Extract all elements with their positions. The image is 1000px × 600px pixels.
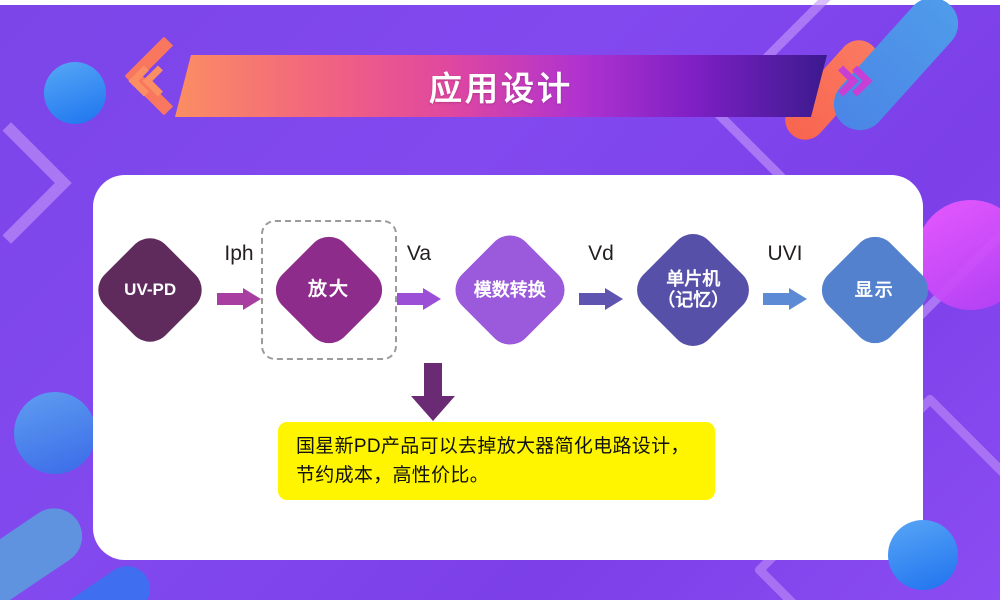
connector-label: Iph [224, 242, 253, 266]
slide-root: 应用设计 UV-PD Iph [0, 0, 1000, 600]
flow-node-label: 模数转换 [474, 280, 546, 301]
circle-magenta-right [916, 200, 1000, 310]
pill-bar-blue-bottom-left [0, 497, 93, 600]
arrow-right-icon [579, 288, 623, 310]
connector-label: Vd [588, 242, 614, 266]
double-chevron-left-icon [133, 61, 167, 111]
flow-node-amplifier[interactable]: 放大 [285, 246, 373, 334]
flow-node-adc[interactable]: 模数转换 [465, 245, 555, 335]
flow-node-label-line2: （记忆） [657, 290, 729, 310]
content-card: UV-PD Iph 放大 Va [93, 175, 923, 560]
diamond-shape: 显示 [813, 228, 937, 352]
circle-blue-bottom-left [14, 392, 96, 474]
callout-note: 国星新PD产品可以去掉放大器简化电路设计， 节约成本，高性价比。 [278, 422, 715, 500]
callout-line-1: 国星新PD产品可以去掉放大器简化电路设计， [296, 432, 697, 461]
flow-node-uv-pd[interactable]: UV-PD [107, 247, 193, 333]
flow-node-label: UV-PD [124, 280, 176, 300]
title-banner: 应用设计 [133, 55, 868, 117]
flow-connector-vd: Vd [555, 240, 647, 340]
flow-node-label: 显示 [855, 280, 895, 301]
arrow-down-icon [411, 363, 455, 421]
pill-bar-indigo-bottom-left [0, 557, 159, 600]
flow-node-display[interactable]: 显示 [831, 246, 919, 334]
page-title: 应用设计 [175, 55, 827, 117]
connector-label: UVI [767, 242, 802, 266]
arrow-right-icon [763, 288, 807, 310]
flow-connector-uvi: UVI [739, 240, 831, 340]
flow-diagram: UV-PD Iph 放大 Va [107, 225, 909, 355]
flow-node-label-line1: 单片机 [666, 269, 720, 289]
chevron-outline-left [0, 122, 72, 244]
circle-blue-top-left [44, 62, 106, 124]
callout-line-2: 节约成本，高性价比。 [296, 461, 697, 490]
arrow-right-icon [217, 288, 261, 310]
top-edge-strip [0, 0, 1000, 5]
flow-node-label: 单片机 （记忆） [657, 269, 729, 310]
flow-connector-va: Va [373, 240, 465, 340]
connector-label: Va [407, 242, 431, 266]
flow-node-mcu[interactable]: 单片机 （记忆） [647, 244, 739, 336]
double-chevron-right-icon [834, 61, 868, 111]
arrow-right-icon [397, 288, 441, 310]
flow-node-label: 放大 [308, 279, 350, 301]
